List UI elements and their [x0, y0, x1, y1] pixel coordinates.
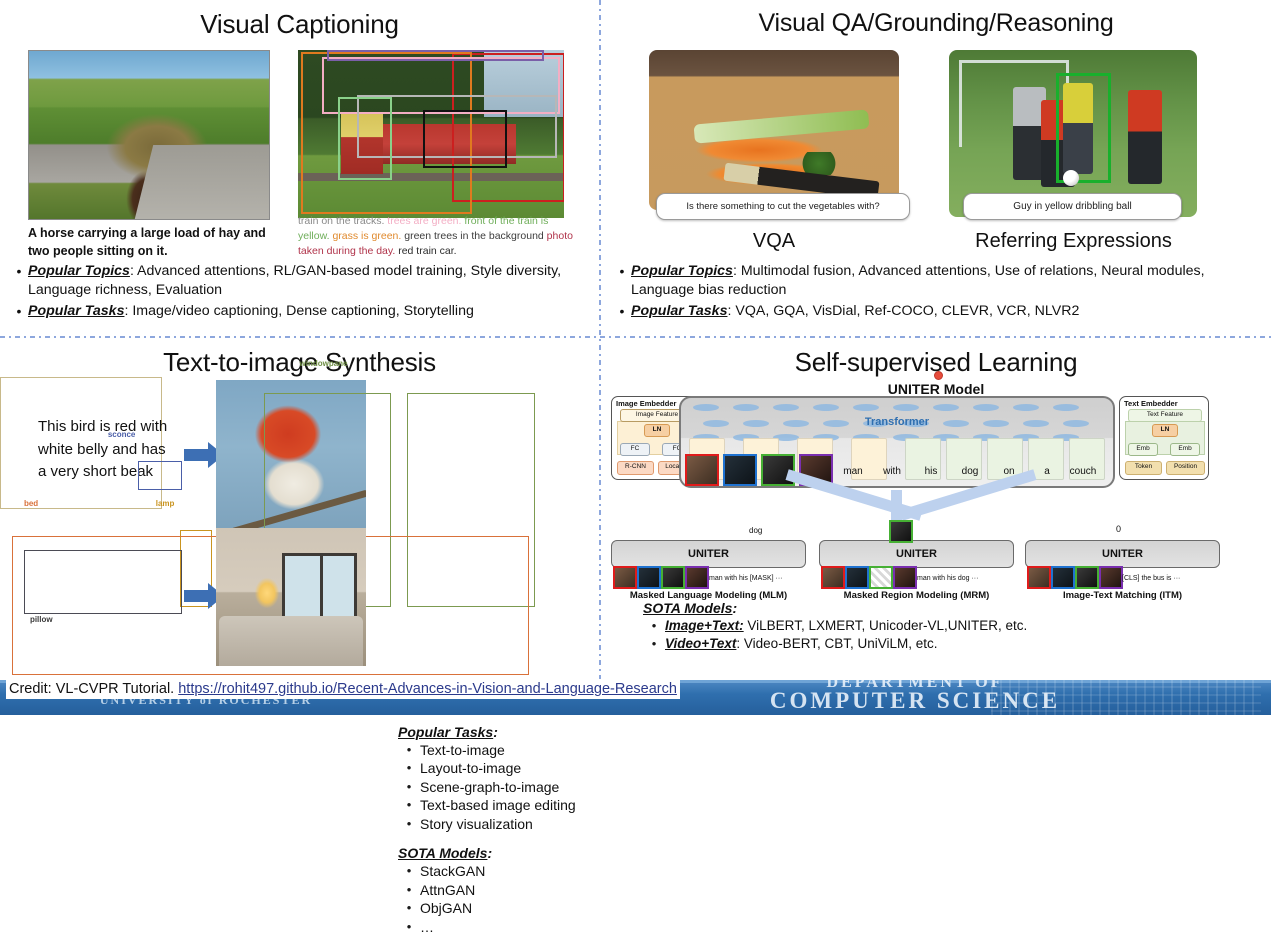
bbox-purple — [327, 50, 544, 61]
region-token-green — [661, 566, 685, 589]
bullet-dot-icon: • — [398, 759, 420, 776]
section-heading-sota-models: SOTA Models: — [398, 845, 588, 861]
uniter-head-mlm: UNITER — [611, 540, 806, 568]
region-token-purple — [893, 566, 917, 589]
list-item: •StackGAN — [398, 862, 588, 880]
list-item: •ObjGAN — [398, 899, 588, 917]
quadrant-visual-captioning: Visual Captioning A horse carrying a lar… — [0, 0, 599, 336]
layout-label-sconce: sconce — [108, 430, 136, 439]
layout-label-lamp: lamp — [156, 499, 175, 508]
list-item: •Text-based image editing — [398, 796, 588, 814]
region-token-purple — [685, 566, 709, 589]
token-word: his — [913, 466, 949, 477]
laser-pointer-dot-icon — [934, 371, 943, 380]
bed-region — [219, 616, 363, 666]
uniter-label: UNITER — [1026, 541, 1219, 567]
bullet-dot-icon: • — [398, 918, 420, 935]
bullet-rest: : VQA, GQA, VisDial, Ref-COCO, CLEVR, VC… — [727, 303, 1079, 319]
dense-caption-phrase-6: red train car. — [398, 245, 456, 257]
building-illustration-icon — [991, 680, 1261, 715]
list-item: • Popular Topics: Multimodal fusion, Adv… — [613, 262, 1263, 300]
road-region — [135, 145, 270, 219]
uniter-head-itm: UNITER — [1025, 540, 1220, 568]
position-node: Position — [1166, 461, 1205, 475]
referring-expression-bubble: Guy in yellow dribbling ball — [963, 193, 1182, 220]
train-dense-caption-photo — [298, 50, 564, 218]
dense-caption-text: train on the tracks. trees are green. fr… — [298, 214, 574, 259]
bullet-dot-icon: • — [398, 741, 420, 758]
uniter-label: UNITER — [612, 541, 805, 567]
bullet-dot-icon: • — [10, 302, 28, 321]
player-red-2 — [1128, 90, 1163, 184]
region-token-red — [1027, 566, 1051, 589]
region-token-masked — [869, 566, 893, 589]
bullet-dot-icon: • — [643, 635, 665, 652]
bullet-rest: : Image/video captioning, Dense captioni… — [124, 303, 473, 319]
page-title-text-to-image: Text-to-image Synthesis — [0, 338, 599, 377]
bullet-dot-icon: • — [398, 796, 420, 813]
region-token-purple — [1099, 566, 1123, 589]
task-label: Text-based image editing — [420, 796, 576, 814]
dense-caption-phrase-3: grass is green. — [332, 230, 404, 242]
captioning-bullet-list: • Popular Topics: Advanced attentions, R… — [10, 262, 595, 324]
region-token-blue — [845, 566, 869, 589]
token-word: with — [874, 466, 910, 477]
text-embedder-box: Text Embedder Text Feature LN Emb Emb To… — [1119, 396, 1209, 480]
slide-canvas: Visual Captioning A horse carrying a lar… — [0, 0, 1271, 715]
sota-lead: Image+Text: — [665, 618, 744, 633]
sota-rest: : Video-BERT, CBT, UniViLM, etc. — [736, 636, 937, 651]
transformer-label: Transformer — [681, 416, 1113, 428]
t2i-tasks-panel: Popular Tasks: •Text-to-image •Layout-to… — [398, 724, 588, 936]
bullet-lead: Popular Topics — [631, 263, 733, 279]
region-token-blue — [1051, 566, 1075, 589]
generated-bedroom-photo — [216, 528, 366, 666]
list-item: • Popular Tasks: Image/video captioning,… — [10, 302, 595, 321]
vqa-kitchen-photo — [649, 50, 899, 210]
image-fc-left-node: FC — [620, 443, 650, 456]
lamp-region — [255, 578, 279, 608]
bullet-dot-icon: • — [643, 617, 665, 634]
layout-label-windowpane: windowpane — [300, 359, 348, 368]
region-token-blue — [723, 454, 757, 486]
mlm-target-label: dog — [749, 526, 762, 535]
referring-expressions-label: Referring Expressions — [931, 230, 1216, 253]
list-item: •AttnGAN — [398, 881, 588, 899]
list-item: • Image+Text: ViLBERT, LXMERT, Unicoder-… — [643, 617, 1253, 635]
token-word: couch — [1065, 466, 1101, 477]
layout-label-bed: bed — [24, 499, 38, 508]
itm-target-label: 0 — [1116, 524, 1121, 534]
region-token-blue — [637, 566, 661, 589]
token-word: dog — [952, 466, 988, 477]
bbox-black — [423, 110, 507, 168]
layout-label-pillow: pillow — [30, 615, 53, 624]
bullet-dot-icon: • — [10, 262, 28, 281]
list-item: •Layout-to-image — [398, 759, 588, 777]
leek-region — [693, 110, 869, 144]
attention-row — [687, 404, 1107, 411]
bullet-lead: Popular Topics — [28, 263, 130, 279]
text-embedder-title: Text Embedder — [1124, 399, 1178, 408]
list-item: •… — [398, 918, 588, 936]
list-item: •Text-to-image — [398, 741, 588, 759]
bullet-lead: Popular Tasks — [28, 303, 124, 319]
image-embedder-title: Image Embedder — [616, 399, 676, 408]
horse-photo-caption: A horse carrying a large load of hay and… — [28, 224, 278, 260]
list-item: •Scene-graph-to-image — [398, 778, 588, 796]
list-item: • Popular Tasks: VQA, GQA, VisDial, Ref-… — [613, 302, 1263, 321]
task-label: Story visualization — [420, 815, 533, 833]
model-label: ObjGAN — [420, 899, 472, 917]
ssl-sota-panel: SOTA Models: • Image+Text: ViLBERT, LXME… — [643, 600, 1253, 653]
uniter-head-mrm: UNITER — [819, 540, 1014, 568]
image-ln-node: LN — [644, 424, 670, 437]
referring-expression-photo — [949, 50, 1197, 217]
credit-line: Credit: VL-CVPR Tutorial. https://rohit4… — [6, 679, 680, 699]
bullet-dot-icon: • — [613, 262, 631, 281]
vqa-question-bubble: Is there something to cut the vegetables… — [656, 193, 910, 220]
layout-box-pillow — [24, 550, 182, 614]
page-title-visual-captioning: Visual Captioning — [0, 0, 599, 39]
mlm-word-row: man with his [MASK] ··· — [709, 575, 783, 582]
bullet-dot-icon: • — [398, 899, 420, 916]
quadrant-self-supervised-learning: Self-supervised Learning UNITER Model Im… — [601, 338, 1271, 680]
emb-right-node: Emb — [1170, 443, 1200, 456]
sota-lead: Video+Text — [665, 636, 736, 651]
region-token-red — [613, 566, 637, 589]
uniter-model-label: UNITER Model — [601, 381, 1271, 397]
credit-url-link[interactable]: https://rohit497.github.io/Recent-Advanc… — [178, 681, 677, 697]
region-token-red — [821, 566, 845, 589]
page-title-visual-qa: Visual QA/Grounding/Reasoning — [601, 0, 1271, 38]
task-label: Text-to-image — [420, 741, 505, 759]
layout-box-sconce — [138, 461, 182, 490]
bullet-dot-icon: • — [398, 881, 420, 898]
text-ln-node: LN — [1152, 424, 1178, 437]
sota-rest: ViLBERT, LXMERT, Unicoder-VL,UNITER, etc… — [744, 618, 1028, 633]
uniter-label: UNITER — [820, 541, 1013, 567]
section-heading-popular-tasks: Popular Tasks: — [398, 724, 588, 740]
region-token-red — [685, 454, 719, 486]
bullet-dot-icon: • — [613, 302, 631, 321]
soccer-ball — [1063, 170, 1079, 186]
emb-left-node: Emb — [1128, 443, 1158, 456]
horse-cart-photo — [28, 50, 270, 220]
model-label: StackGAN — [420, 862, 485, 880]
bullet-dot-icon: • — [398, 862, 420, 879]
model-label: … — [420, 918, 434, 936]
dense-caption-phrase-1: trees are green. — [387, 215, 464, 227]
bbox-green — [338, 97, 393, 180]
list-item: • Video+Text: Video-BERT, CBT, UniViLM, … — [643, 635, 1253, 653]
model-label: AttnGAN — [420, 881, 475, 899]
window-region — [282, 553, 357, 622]
green-bounding-box — [1056, 73, 1112, 183]
dense-caption-phrase-4: green trees in the background — [404, 230, 546, 242]
bullet-dot-icon: • — [398, 815, 420, 832]
itm-word-row: [CLS] the bus is ··· — [1122, 575, 1180, 582]
list-item: •Story visualization — [398, 815, 588, 833]
rcnn-node: R-CNN — [617, 461, 654, 475]
dense-caption-phrase-0: train on the tracks. — [298, 215, 387, 227]
bullet-dot-icon: • — [398, 778, 420, 795]
section-heading-sota-models: SOTA Models: — [643, 600, 1253, 616]
credit-prefix: Credit: VL-CVPR Tutorial. — [9, 681, 178, 697]
task-label: Layout-to-image — [420, 759, 521, 777]
task-label: Scene-graph-to-image — [420, 778, 559, 796]
quadrant-text-to-image: Text-to-image Synthesis This bird is red… — [0, 338, 599, 680]
quadrant-visual-qa: Visual QA/Grounding/Reasoning Is there s… — [601, 0, 1271, 336]
mrm-word-row: man with his dog ··· — [917, 575, 978, 582]
region-token-green — [1075, 566, 1099, 589]
vqa-caption-label: VQA — [649, 230, 899, 253]
token-node: Token — [1125, 461, 1162, 475]
token-word: man — [835, 466, 871, 477]
bullet-lead: Popular Tasks — [631, 303, 727, 319]
text-feature-node: Text Feature — [1128, 409, 1202, 422]
vqa-bullet-list: • Popular Topics: Multimodal fusion, Adv… — [613, 262, 1263, 324]
mrm-target-region — [889, 520, 913, 543]
list-item: • Popular Topics: Advanced attentions, R… — [10, 262, 595, 300]
